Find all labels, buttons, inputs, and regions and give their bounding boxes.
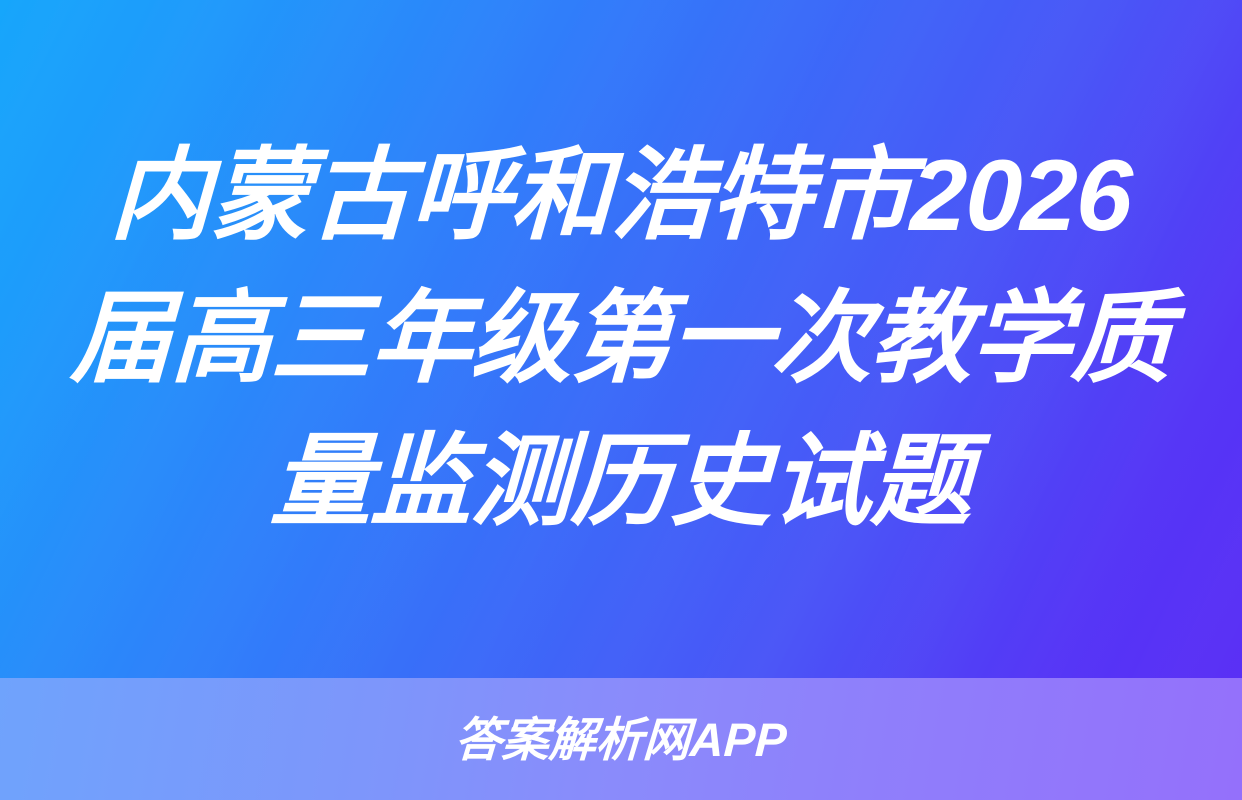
exam-title-line-1: 内蒙古呼和浩特市2026	[50, 125, 1193, 268]
exam-title-block: 内蒙古呼和浩特市2026 届高三年级第一次教学质 量监测历史试题	[0, 0, 1242, 678]
watermark-band: 答案解析网APP	[0, 678, 1242, 800]
exam-title-line-2: 届高三年级第一次教学质	[50, 268, 1193, 411]
watermark-brand-text: 答案解析网APP	[454, 716, 788, 763]
exam-title-card: 内蒙古呼和浩特市2026 届高三年级第一次教学质 量监测历史试题 答案解析网AP…	[0, 0, 1242, 800]
exam-title-line-3: 量监测历史试题	[50, 411, 1193, 554]
